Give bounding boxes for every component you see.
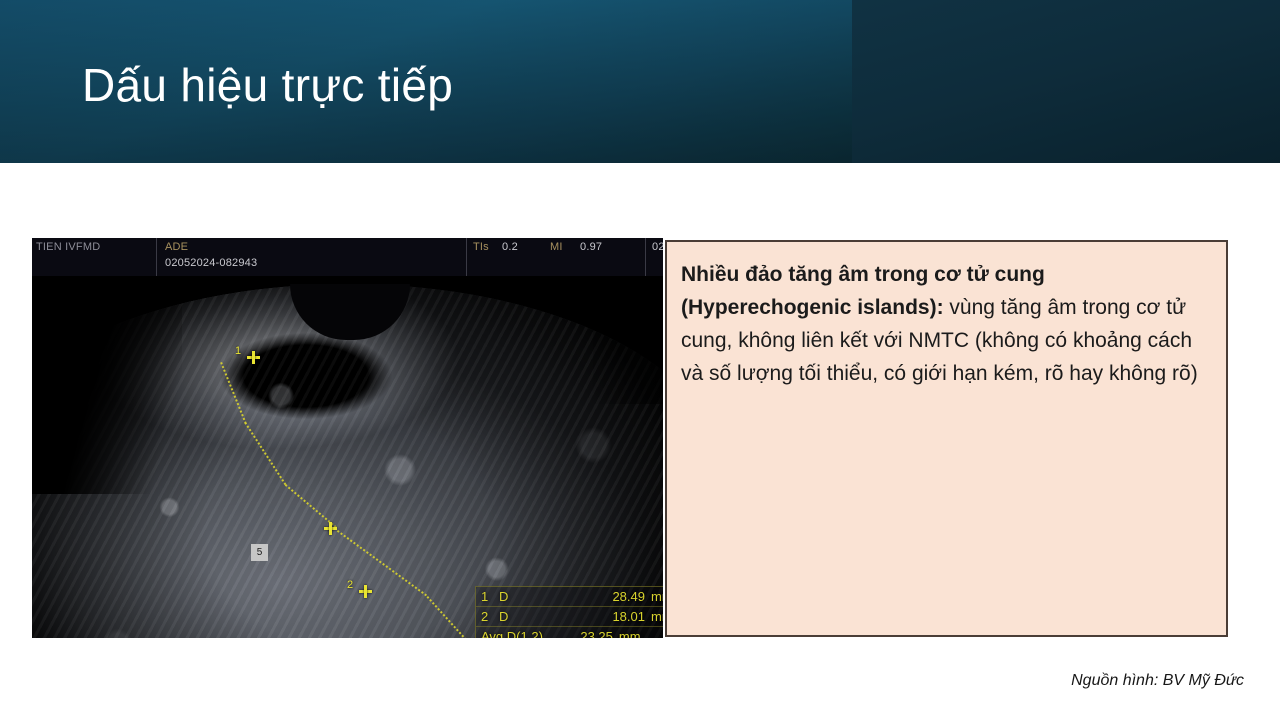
ultrasound-tis-value: 0.2 — [502, 241, 518, 253]
caliper-marker-1 — [247, 351, 260, 364]
measurement-value: 23.25 — [543, 629, 613, 638]
measurement-row: 1 D 28.49 mm — [476, 587, 663, 607]
ultrasound-left-shadow — [32, 284, 182, 494]
measurement-unit: mm — [645, 589, 663, 604]
ultrasound-image: TIEN IVFMD ADE 02052024-082943 TIs 0.2 M… — [32, 238, 663, 638]
measurement-label: D — [499, 609, 579, 624]
measurement-readout: 1 D 28.49 mm 2 D 18.01 mm Avg D(1,2) 23.… — [475, 586, 663, 638]
info-bar-divider-3 — [645, 238, 646, 276]
measurement-index: 2 — [476, 609, 499, 624]
ultrasound-mi-label: MI — [550, 241, 563, 253]
caliper-label-2: 2 — [347, 580, 353, 591]
ultrasound-info-bar — [32, 238, 663, 276]
measurement-row: 2 D 18.01 mm — [476, 607, 663, 627]
ultrasound-tis-label: TIs — [473, 241, 489, 253]
caliper-label-1: 1 — [235, 346, 241, 357]
measurement-label: D — [499, 589, 579, 604]
measurement-value: 18.01 — [579, 609, 645, 624]
caliper-marker-mid — [324, 522, 337, 535]
measurement-unit: mm — [613, 629, 655, 638]
ultrasound-trailing-value: 02 — [652, 241, 663, 253]
ultrasound-right-shadow — [593, 284, 663, 404]
measurement-row-average: Avg D(1,2) 23.25 mm — [476, 627, 663, 638]
measurement-index: Avg D(1,2) — [476, 629, 543, 638]
ultrasound-mi-value: 0.97 — [580, 241, 602, 253]
ultrasound-exam-id: 02052024-082943 — [165, 257, 257, 269]
measurement-unit: mm — [645, 609, 663, 624]
info-bar-divider-2 — [466, 238, 467, 276]
ultrasound-institution: TIEN IVFMD — [36, 241, 100, 253]
ultrasound-exam-label: ADE — [165, 241, 188, 253]
info-bar-divider-1 — [156, 238, 157, 276]
description-callout-box: Nhiều đảo tăng âm trong cơ tử cung (Hype… — [665, 240, 1228, 637]
measurement-value: 28.49 — [579, 589, 645, 604]
source-caption: Nguồn hình: BV Mỹ Đức — [1071, 672, 1244, 690]
callout-text: Nhiều đảo tăng âm trong cơ tử cung (Hype… — [667, 242, 1226, 390]
header-gradient-right — [852, 0, 1280, 163]
depth-marker-badge: 5 — [251, 544, 268, 561]
caliper-marker-2 — [359, 585, 372, 598]
page-title: Dấu hiệu trực tiếp — [82, 56, 453, 114]
measurement-index: 1 — [476, 589, 499, 604]
slide-header-banner: Dấu hiệu trực tiếp — [0, 0, 1280, 163]
